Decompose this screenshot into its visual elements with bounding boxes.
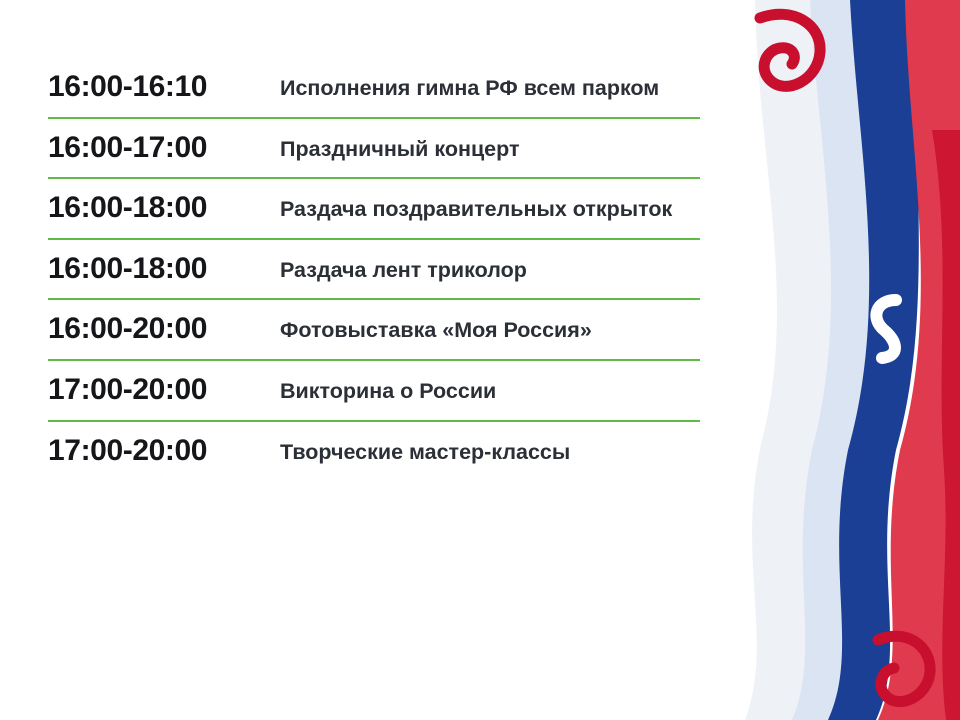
- schedule-row-time: 17:00-20:00: [48, 373, 280, 407]
- schedule-list: 16:00-16:10 Исполнения гимна РФ всем пар…: [48, 58, 700, 480]
- schedule-row: 16:00-16:10 Исполнения гимна РФ всем пар…: [48, 58, 700, 119]
- schedule-row-title: Исполнения гимна РФ всем парком: [280, 70, 700, 103]
- schedule-row: 16:00-20:00 Фотовыставка «Моя Россия»: [48, 300, 700, 361]
- schedule-row-time: 16:00-20:00: [48, 312, 280, 346]
- schedule-row-time: 17:00-20:00: [48, 434, 280, 468]
- schedule-row-title: Раздача поздравительных открыток: [280, 191, 700, 224]
- schedule-row: 17:00-20:00 Творческие мастер-классы: [48, 422, 700, 481]
- russian-tricolor-ribbon-graphic: [700, 0, 960, 720]
- schedule-row: 16:00-18:00 Раздача лент триколор: [48, 240, 700, 301]
- schedule-row-title: Фотовыставка «Моя Россия»: [280, 312, 700, 345]
- schedule-row-time: 16:00-18:00: [48, 191, 280, 225]
- schedule-row-title: Викторина о России: [280, 373, 700, 406]
- schedule-row-time: 16:00-17:00: [48, 131, 280, 165]
- schedule-row: 16:00-18:00 Раздача поздравительных откр…: [48, 179, 700, 240]
- schedule-row: 16:00-17:00 Праздничный концерт: [48, 119, 700, 180]
- schedule-row: 17:00-20:00 Викторина о России: [48, 361, 700, 422]
- schedule-row-time: 16:00-18:00: [48, 252, 280, 286]
- schedule-row-title: Праздничный концерт: [280, 131, 700, 164]
- schedule-row-title: Творческие мастер-классы: [280, 434, 700, 467]
- schedule-row-time: 16:00-16:10: [48, 70, 280, 104]
- poster-canvas: 16:00-16:10 Исполнения гимна РФ всем пар…: [0, 0, 960, 720]
- schedule-row-title: Раздача лент триколор: [280, 252, 700, 285]
